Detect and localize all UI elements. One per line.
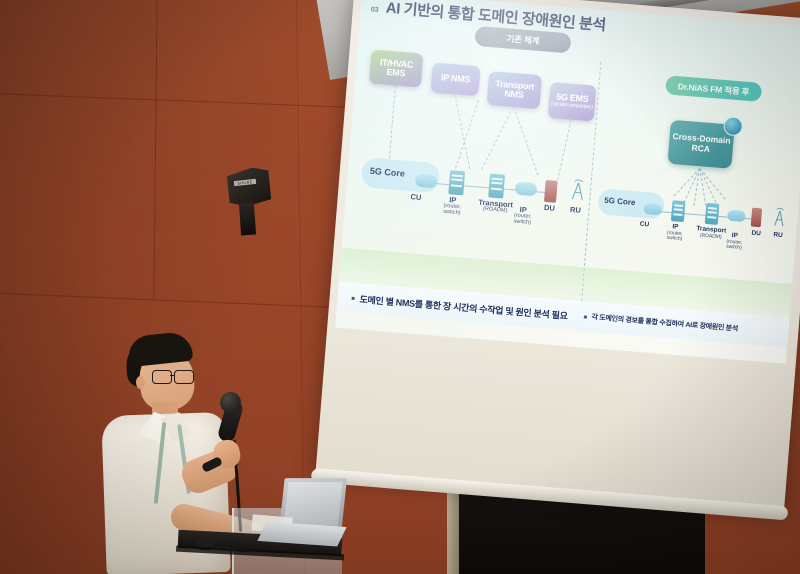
node-label-ip-1: IP (router, switch) — [659, 223, 690, 243]
node-label-du: DU — [537, 203, 562, 213]
slide-number: 03 — [371, 6, 379, 14]
node-icon-ru-antenna — [570, 178, 586, 201]
network-row-dr-nias: 5G Core CU IP (rout — [595, 190, 790, 279]
nms-box-ip: IP NMS — [430, 62, 480, 96]
node-label-ip-1: IP (router, switch) — [435, 195, 470, 217]
bullet-after: 각 도메인의 경보를 통합 수집하여 AI로 장애원인 분석 — [583, 311, 738, 333]
node-label-ip-2: IP (router, switch) — [505, 205, 540, 227]
node-label-ru: RU — [768, 232, 788, 240]
ai-badge-icon — [723, 116, 743, 136]
node-icon-ip-switch — [448, 170, 465, 195]
node-icon-cu-router — [415, 173, 438, 188]
node-icon-ip-router — [514, 182, 537, 197]
room-photo: SHURE 03 AI 기반의 통합 도메인 장애원인 분석 기존 체계 Dr.… — [0, 0, 800, 574]
projection-screen: 03 AI 기반의 통합 도메인 장애원인 분석 기존 체계 Dr.NiAS F… — [316, 0, 800, 510]
node-label-cu: CU — [632, 221, 656, 230]
node-label-ru: RU — [563, 205, 588, 215]
cross-domain-rca-box: Cross-Domain RCA — [667, 120, 734, 169]
node-icon-ip-router — [727, 210, 746, 222]
node-icon-ip-switch — [671, 200, 686, 222]
nms-box-transport: Transport NMS — [487, 71, 543, 109]
node-icon-cu-router — [643, 203, 662, 215]
ems-box-it-hvac: IT/HVAC EMS — [369, 50, 424, 88]
ems-box-5g: 5G EMS (Vendor-proprietary) — [548, 82, 597, 122]
node-icon-ru-antenna — [773, 206, 789, 229]
microphone-head-icon — [220, 392, 241, 413]
node-icon-transport-roadm — [705, 203, 720, 225]
bullet-marker-icon — [352, 296, 355, 299]
glasses — [152, 370, 196, 382]
bullet-marker-icon — [583, 315, 586, 318]
ear — [136, 376, 145, 389]
node-label-cu: CU — [402, 192, 431, 202]
node-icon-du — [751, 208, 762, 228]
speaker-mount-bracket — [239, 203, 256, 236]
network-row-legacy: 5G Core CU IP (rout — [359, 159, 588, 251]
node-icon-du — [544, 180, 558, 203]
after-section-pill: Dr.NiAS FM 적용 후 — [665, 75, 762, 102]
node-icon-transport-roadm — [488, 173, 505, 198]
presentation-slide: 03 AI 기반의 통합 도메인 장애원인 분석 기존 체계 Dr.NiAS F… — [335, 0, 800, 364]
